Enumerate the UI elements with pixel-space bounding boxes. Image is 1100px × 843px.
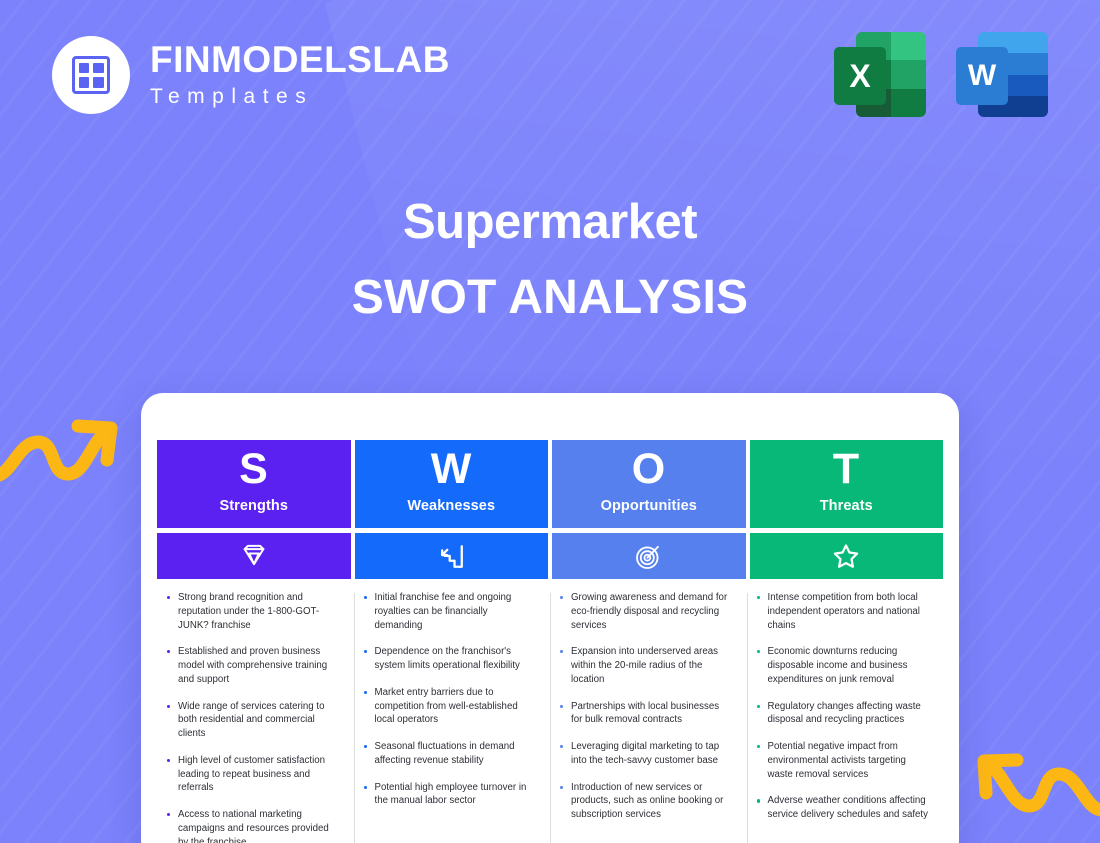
list-item: Dependence on the franchisor's system li… <box>362 645 537 673</box>
list-item: Growing awareness and demand for eco-fri… <box>558 591 733 632</box>
list-item: Strong brand recognition and reputation … <box>165 591 340 632</box>
word-icon-letter: W <box>956 47 1008 105</box>
list-item: Expansion into underserved areas within … <box>558 645 733 686</box>
swot-letter: O <box>632 448 666 491</box>
list-item: Market entry barriers due to competition… <box>362 686 537 727</box>
grid-cell <box>79 63 90 74</box>
swot-label: Strengths <box>219 498 288 514</box>
swot-header-strengths: S Strengths <box>157 440 351 528</box>
list-item: High level of customer satisfaction lead… <box>165 754 340 795</box>
list-item: Adverse weather conditions affecting ser… <box>755 794 930 822</box>
brand-logo: FINMODELSLAB Templates <box>52 36 450 114</box>
logo-circle <box>52 36 130 114</box>
list-item: Potential high employee turnover in the … <box>362 781 537 809</box>
swot-header-threats: T Threats <box>750 440 944 528</box>
list-item: Partnerships with local businesses for b… <box>558 700 733 728</box>
star-icon <box>750 533 944 579</box>
excel-icon: X <box>834 28 926 120</box>
page-subtitle: SWOT ANALYSIS <box>0 272 1100 325</box>
swot-label: Weaknesses <box>407 498 495 514</box>
word-icon: W <box>956 28 1048 120</box>
title-block: Supermarket SWOT ANALYSIS <box>0 196 1100 325</box>
list-item: Leveraging digital marketing to tap into… <box>558 740 733 768</box>
target-icon <box>552 533 746 579</box>
swot-list-strengths: Strong brand recognition and reputation … <box>157 591 354 843</box>
swot-header-weaknesses: W Weaknesses <box>355 440 549 528</box>
list-item: Wide range of services catering to both … <box>165 700 340 741</box>
page-title: Supermarket <box>0 196 1100 250</box>
swot-list-threats: Intense competition from both local inde… <box>747 591 944 843</box>
swot-icon-row <box>157 533 943 579</box>
list-item: Initial franchise fee and ongoing royalt… <box>362 591 537 632</box>
brand-subtitle: Templates <box>150 85 450 109</box>
descending-stairs-icon <box>355 533 549 579</box>
list-item: Economic downturns reducing disposable i… <box>755 645 930 686</box>
grid-squares-icon <box>72 56 110 94</box>
list-item: Regulatory changes affecting waste dispo… <box>755 700 930 728</box>
squiggly-arrow-up-right-icon <box>0 402 122 493</box>
excel-icon-letter: X <box>834 47 886 105</box>
list-item: Potential negative impact from environme… <box>755 740 930 781</box>
swot-header-row: S Strengths W Weaknesses O Opportunities… <box>157 440 943 528</box>
brand-name: FINMODELSLAB <box>150 41 450 80</box>
list-item: Access to national marketing campaigns a… <box>165 808 340 843</box>
grid-cell <box>79 77 90 88</box>
grid-cell <box>93 63 104 74</box>
swot-list-opportunities: Growing awareness and demand for eco-fri… <box>550 591 747 843</box>
office-badges: X W <box>834 28 1048 120</box>
list-item: Introduction of new services or products… <box>558 781 733 822</box>
swot-card: S Strengths W Weaknesses O Opportunities… <box>141 393 959 843</box>
diamond-icon <box>157 533 351 579</box>
swot-letter: S <box>239 448 268 491</box>
squiggly-arrow-down-left-icon <box>969 748 1100 841</box>
brand-text: FINMODELSLAB Templates <box>150 41 450 109</box>
list-item: Seasonal fluctuations in demand affectin… <box>362 740 537 768</box>
swot-header-opportunities: O Opportunities <box>552 440 746 528</box>
swot-label: Opportunities <box>601 498 697 514</box>
swot-list-weaknesses: Initial franchise fee and ongoing royalt… <box>354 591 551 843</box>
list-item: Intense competition from both local inde… <box>755 591 930 632</box>
grid-cell <box>93 77 104 88</box>
swot-grid: S Strengths W Weaknesses O Opportunities… <box>157 440 943 843</box>
list-item: Established and proven business model wi… <box>165 645 340 686</box>
header: FINMODELSLAB Templates X W <box>0 0 1100 150</box>
swot-letter: T <box>833 448 860 491</box>
swot-label: Threats <box>820 498 873 514</box>
swot-letter: W <box>431 448 472 491</box>
swot-content-row: Strong brand recognition and reputation … <box>157 591 943 843</box>
